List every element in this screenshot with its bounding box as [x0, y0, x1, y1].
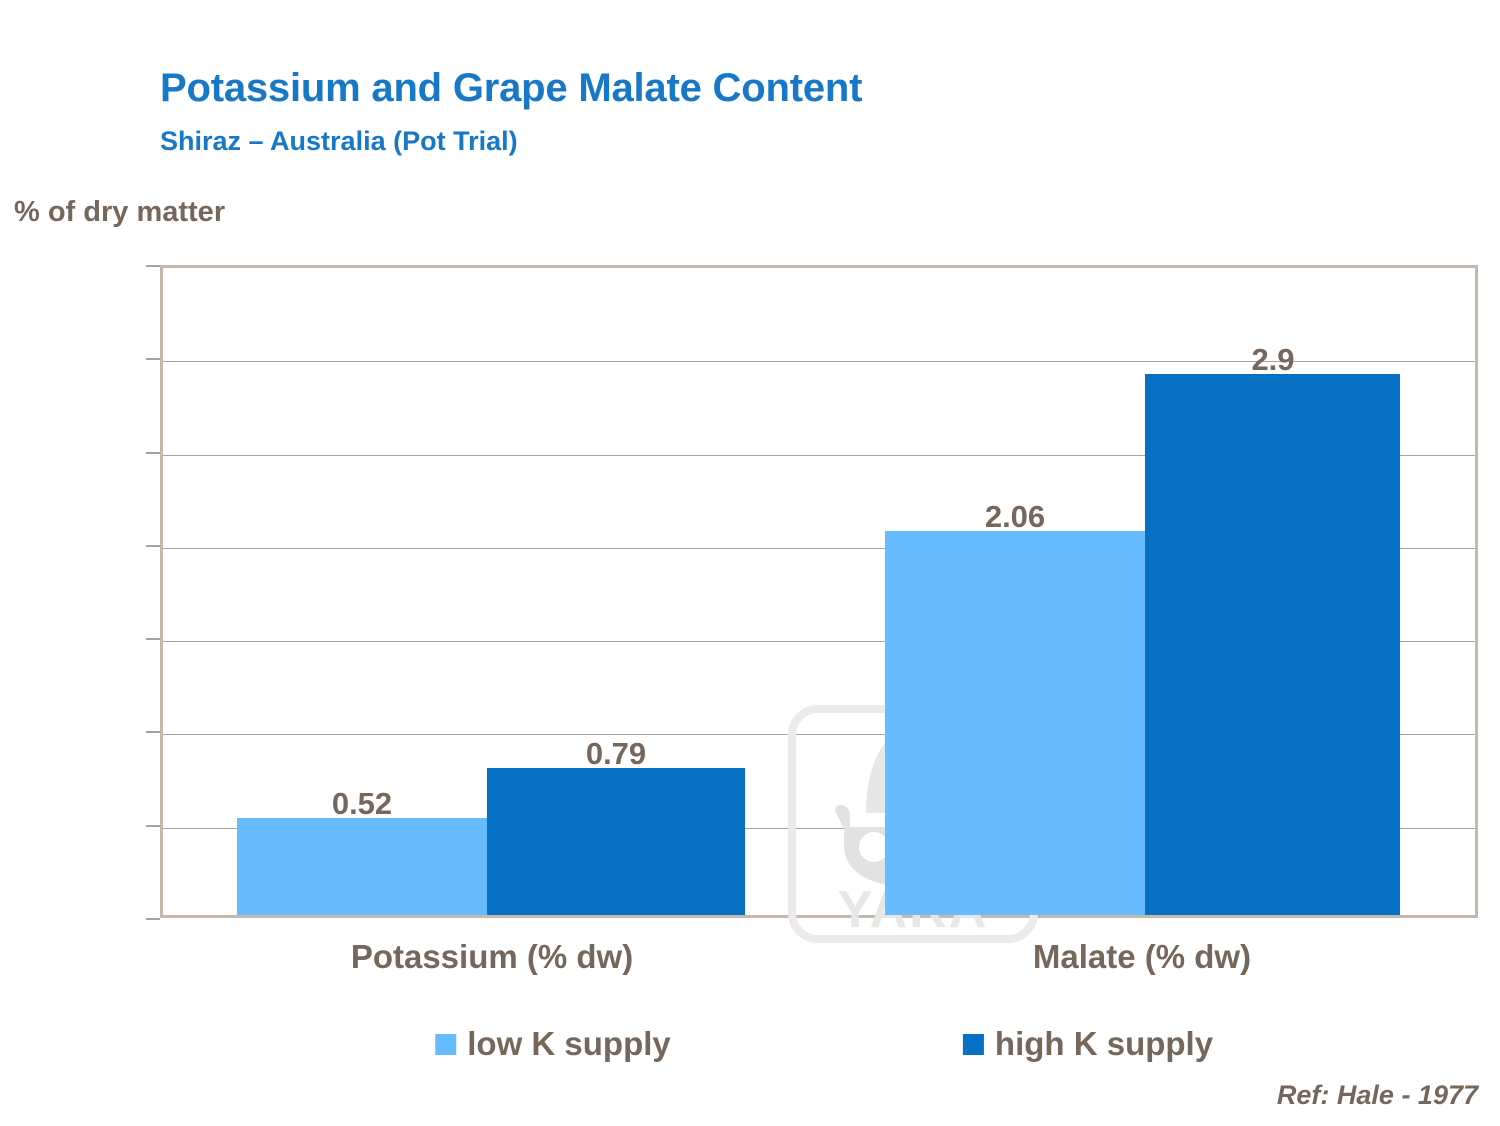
- bar-value-malate-high-k: 2.9: [1251, 342, 1294, 378]
- y-tick-mark-3-0: [146, 358, 160, 360]
- y-tick-mark-2-5: [146, 452, 160, 454]
- bar-malate-low-k[interactable]: [885, 531, 1145, 915]
- bar-value-potassium-high-k: 0.79: [586, 736, 646, 772]
- y-tick-mark-1-0: [146, 731, 160, 733]
- bar-value-malate-low-k: 2.06: [985, 499, 1045, 535]
- y-tick-mark-3-5: [146, 265, 160, 267]
- bar-malate-high-k[interactable]: [1145, 374, 1400, 915]
- reference-note: Ref: Hale - 1977: [1277, 1080, 1478, 1111]
- legend-label-high-k: high K supply: [995, 1025, 1213, 1063]
- legend-swatch-icon-high-k: [963, 1034, 984, 1055]
- bar-potassium-low-k[interactable]: [237, 818, 487, 915]
- chart-subtitle: Shiraz – Australia (Pot Trial): [160, 126, 518, 157]
- plot-area: YARA 0.52 0.79 2.06 2.9: [160, 265, 1478, 918]
- y-tick-mark-0-5: [146, 825, 160, 827]
- page-title: Potassium and Grape Malate Content: [160, 66, 862, 111]
- bar-potassium-high-k[interactable]: [487, 768, 745, 915]
- legend: low K supply high K supply: [0, 1025, 1500, 1070]
- y-tick-mark-2-0: [146, 545, 160, 547]
- legend-item-low-k-supply[interactable]: low K supply: [435, 1025, 671, 1063]
- legend-item-high-k-supply[interactable]: high K supply: [963, 1025, 1213, 1063]
- legend-label-low-k: low K supply: [467, 1025, 671, 1063]
- y-tick-mark-1-5: [146, 638, 160, 640]
- y-axis-title: % of dry matter: [14, 196, 225, 229]
- bar-value-potassium-low-k: 0.52: [332, 786, 392, 822]
- x-category-label-malate: Malate (% dw): [1033, 938, 1251, 976]
- y-tick-mark-0-0: [146, 918, 160, 920]
- legend-swatch-icon-low-k: [435, 1034, 456, 1055]
- x-category-label-potassium: Potassium (% dw): [351, 938, 633, 976]
